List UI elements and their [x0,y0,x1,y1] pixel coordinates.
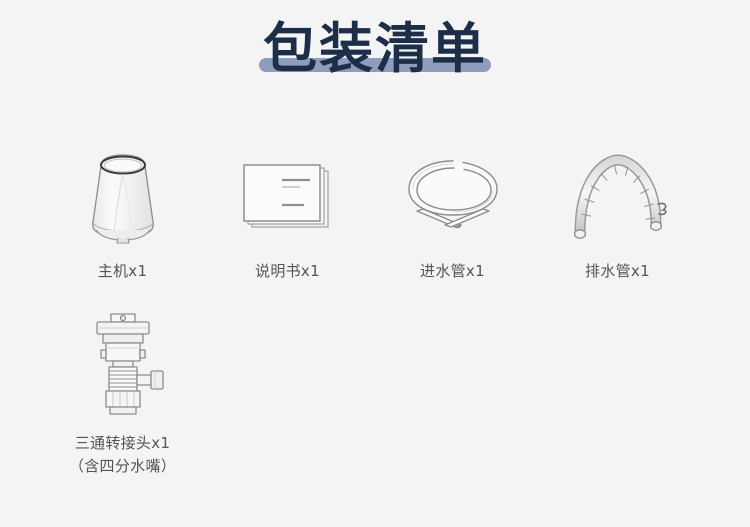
list-item-label: 排水管x1 [585,260,650,283]
list-item-label: 进水管x1 [420,260,485,283]
main-unit-icon [63,148,183,248]
list-item: 主机x1 [40,148,205,283]
list-item: 三通转接头x1 （含四分水嘴） [40,310,205,477]
list-item: 进水管x1 [370,148,535,283]
list-item-sublabel: （含四分水嘴） [69,455,176,478]
manual-booklet-icon [228,148,348,248]
page-title-block: 包装清单 [0,18,750,98]
page-title: 包装清单 [263,18,487,80]
packing-list-row-1: 主机x1 说明书x1 [0,148,750,283]
list-item-label: 三通转接头x1 （含四分水嘴） [69,432,176,477]
list-item-label: 说明书x1 [255,260,320,283]
tee-adapter-valve-icon [63,310,183,420]
drain-hose-arch-icon [558,148,678,248]
list-item: 说明书x1 [205,148,370,283]
packing-list-page: 包装清单 [0,0,750,527]
inlet-hose-coil-icon [393,148,513,248]
packing-list-row-2: 三通转接头x1 （含四分水嘴） [0,310,750,477]
list-item-label: 主机x1 [98,260,148,283]
list-item: 排水管x1 [535,148,700,283]
